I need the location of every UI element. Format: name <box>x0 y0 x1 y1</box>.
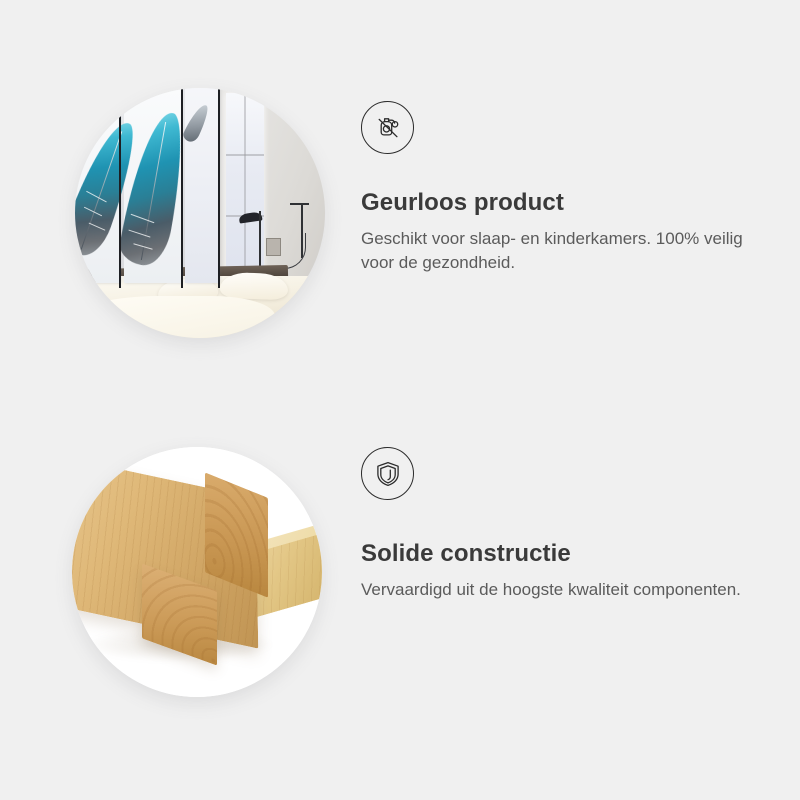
canvas-divider <box>181 88 183 288</box>
shield-glyph <box>372 458 404 490</box>
feature-title: Geurloos product <box>361 189 761 218</box>
photo-inner <box>72 447 322 697</box>
bedroom-scene <box>75 88 325 338</box>
feature-description: Vervaardigd uit de hoogste kwaliteit com… <box>361 578 751 602</box>
bed-duvet <box>75 296 275 339</box>
shield-icon <box>361 447 414 500</box>
no-fragrance-icon <box>361 101 414 154</box>
feature-text-block: Solide constructie Vervaardigd uit de ho… <box>361 447 761 602</box>
wooden-beams-photo <box>72 447 322 697</box>
feature-text-block: Geurloos product Geschikt voor slaap- en… <box>361 101 761 275</box>
canvas-divider <box>218 88 220 288</box>
wall-lamp-arm <box>290 203 309 205</box>
no-fragrance-glyph <box>371 111 405 145</box>
photo-inner <box>75 88 325 338</box>
window-mullion <box>244 93 246 278</box>
canvas-divider <box>119 88 121 288</box>
feature-description: Geschikt voor slaap- en kinderkamers. 10… <box>361 227 751 275</box>
bedroom-feather-canvas-photo <box>75 88 325 338</box>
feature-title: Solide constructie <box>361 540 761 569</box>
wood-scene <box>72 447 322 697</box>
